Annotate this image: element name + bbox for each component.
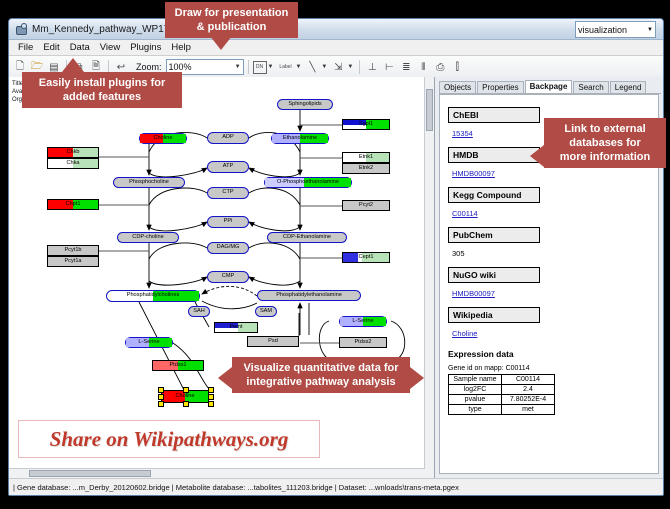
selection-handle-s[interactable] [183, 401, 189, 407]
table-row: pvalue 7.80252E-4 [449, 395, 555, 405]
node-label: Sphingolipids [288, 102, 321, 108]
node-label: ADP [222, 135, 234, 141]
callout-visualize-line2: integrative pathway analysis [239, 375, 403, 389]
label-icon[interactable]: Label [276, 59, 294, 75]
node-label: Ethanolamine [283, 136, 317, 142]
tab-backpage[interactable]: Backpage [525, 80, 573, 93]
visualization-combo[interactable]: visualization ▼ [575, 21, 656, 38]
expression-table: Sample name C00114 log2FC 2.4 pvalue 7.8… [448, 374, 555, 415]
node-phosphatidylcholines[interactable]: Phosphatidylcholines [106, 290, 200, 302]
db-link-hmdb[interactable]: HMDB00097 [452, 169, 495, 178]
menu-edit[interactable]: Edit [38, 41, 64, 54]
node-o-phosphoethanolamine[interactable]: O-Phosphoethanolamine [264, 177, 352, 188]
db-link-nugo-wiki[interactable]: HMDB00097 [452, 289, 495, 298]
menu-plugins[interactable]: Plugins [125, 41, 166, 54]
node-ptdss2[interactable]: Ptdss2 [339, 337, 387, 348]
canvas-horizontal-scrollbar[interactable] [9, 468, 425, 478]
node-sphingolipids[interactable]: Sphingolipids [277, 99, 333, 110]
node-ppi[interactable]: PPi [207, 216, 249, 228]
node-label: Etnk2 [359, 166, 373, 172]
callout-visualize-arrow-right-icon [410, 367, 424, 389]
node-label: L-Serine [352, 319, 373, 325]
node-label: Pcyt1b [64, 248, 81, 254]
node-ethanolamine-top[interactable]: Ethanolamine [271, 133, 329, 144]
node-ctp[interactable]: CTP [207, 187, 249, 199]
node-label: CDP-choline [132, 235, 163, 241]
selection-handle-nw[interactable] [158, 387, 164, 393]
menu-view[interactable]: View [95, 41, 125, 54]
table-row: type met [449, 405, 555, 415]
node-label: Chpt1 [66, 202, 81, 208]
callout-link-line1: Link to external [551, 122, 659, 136]
table-row: log2FC 2.4 [449, 385, 555, 395]
expr-val-sample-name: C00114 [502, 375, 555, 385]
callout-plugins-line2: added features [29, 90, 175, 104]
node-cmp[interactable]: CMP [207, 271, 249, 283]
db-link-chebi[interactable]: 15354 [452, 129, 473, 138]
db-header-kegg-compound: Kegg Compound [448, 187, 540, 203]
canvas-vscroll-thumb[interactable] [426, 89, 433, 131]
db-header-hmdb: HMDB [448, 147, 540, 163]
selection-handle-e[interactable] [208, 394, 214, 400]
node-label: Pemt [229, 325, 242, 331]
callout-link-line3: more information [551, 150, 659, 164]
callout-plugins-arrow-icon [62, 58, 84, 72]
db-header-nugo-wiki: NuGO wiki [448, 267, 540, 283]
label-dropdown-icon[interactable]: ▼ [295, 64, 301, 70]
db-header-wikipedia: Wikipedia [448, 307, 540, 323]
node-label: PPi [224, 219, 233, 225]
canvas-hscroll-thumb[interactable] [29, 470, 151, 477]
node-atp[interactable]: ATP [207, 161, 249, 173]
expr-key-log2fc: log2FC [449, 385, 502, 395]
canvas-vertical-scrollbar[interactable] [424, 77, 434, 478]
node-sgpl1[interactable]: Sgpl1 [342, 119, 390, 130]
callout-plugins-line1: Easily install plugins for [29, 76, 175, 90]
datanode-dropdown-icon[interactable]: ▼ [268, 64, 274, 70]
zoom-label: Zoom: [136, 62, 162, 72]
node-l-serine-left[interactable]: L-Serine [125, 337, 173, 348]
node-pcyt1b[interactable]: Pcyt1b [47, 245, 99, 256]
node-label: O-Phosphoethanolamine [277, 180, 339, 186]
expr-key-sample-name: Sample name [449, 375, 502, 385]
status-bar: | Gene database: ...m_Derby_20120602.bri… [9, 478, 663, 495]
node-label: Chka [66, 161, 79, 167]
db-link-wikipedia[interactable]: Choline [452, 329, 477, 338]
node-label: Etnk1 [359, 155, 373, 161]
node-chkb[interactable]: Chkb [47, 147, 99, 158]
line-icon[interactable]: ╲ [304, 59, 320, 75]
node-label: Ptdss1 [169, 363, 186, 369]
callout-draw-arrow-icon [210, 36, 232, 50]
expr-val-pvalue: 7.80252E-4 [502, 395, 555, 405]
connector-icon[interactable]: ⇲ [330, 59, 346, 75]
menu-data[interactable]: Data [65, 41, 95, 54]
node-sam[interactable]: SAM [255, 306, 277, 317]
node-label: Phosphatidylcholines [127, 293, 180, 299]
menu-bar: File Edit Data View Plugins Help [9, 40, 663, 56]
node-choline-top[interactable]: Choline [139, 133, 187, 144]
distribute-v-icon[interactable]: ≣ [398, 59, 414, 75]
node-ptdss1[interactable]: Ptdss1 [152, 360, 204, 371]
selection-handle-ne[interactable] [208, 387, 214, 393]
menu-help[interactable]: Help [166, 41, 196, 54]
node-label: Choline [154, 136, 173, 142]
db-header-chebi: ChEBI [448, 107, 540, 123]
layout-icon[interactable]: ⫿ [449, 59, 465, 75]
node-label: Phosphatidylethanolamine [276, 293, 342, 299]
db-link-kegg-compound[interactable]: C00114 [452, 209, 478, 218]
tab-legend[interactable]: Legend [610, 81, 647, 93]
line-dropdown-icon[interactable]: ▼ [321, 64, 327, 70]
toolbar-separator-4 [359, 60, 360, 74]
node-phosphocholine[interactable]: Phosphocholine [113, 177, 185, 188]
node-label: Chkb [66, 150, 79, 156]
node-label: Phosphocholine [129, 180, 169, 186]
db-value-pubchem: 305 [452, 249, 465, 258]
node-label: Pcyt2 [359, 203, 373, 209]
node-adp[interactable]: ADP [207, 132, 249, 144]
expr-key-type: type [449, 405, 502, 415]
chevron-down-icon: ▼ [235, 64, 241, 70]
callout-draw-line1: Draw for presentation [172, 6, 291, 20]
selection-handle-n[interactable] [183, 387, 189, 393]
expr-key-pvalue: pvalue [449, 395, 502, 405]
node-label: Pcyt1a [64, 259, 81, 265]
node-sah[interactable]: SAH [188, 306, 210, 317]
expression-data-header: Expression data [448, 349, 650, 359]
node-l-serine-right[interactable]: L-Serine [339, 316, 387, 327]
screenshot-root: Mm_Kennedy_pathway_WP1771_45176.gpml Fil… [0, 0, 670, 509]
callout-link-arrow-icon [530, 145, 544, 167]
callout-visualize-line1: Visualize quantitative data for [239, 361, 403, 375]
side-panel-tabs: Objects Properties Backpage Search Legen… [439, 79, 661, 94]
toolbar-separator-3 [248, 60, 249, 74]
title-bar: Mm_Kennedy_pathway_WP1771_45176.gpml [9, 19, 663, 40]
table-row: Sample name C00114 [449, 375, 555, 385]
menu-file[interactable]: File [13, 41, 38, 54]
node-pemt[interactable]: Pemt [214, 322, 258, 333]
print-icon[interactable]: ⎙ [432, 59, 448, 75]
tab-properties[interactable]: Properties [477, 81, 523, 93]
node-etnk1[interactable]: Etnk1 [342, 152, 390, 163]
node-pcyt2[interactable]: Pcyt2 [342, 200, 390, 211]
zoom-value: 100% [169, 62, 192, 72]
gene-id-on-mapp: Gene id on mapp: C00114 [448, 365, 650, 372]
node-label: Choline [176, 394, 195, 400]
db-header-pubchem: PubChem [448, 227, 540, 243]
app-icon [15, 23, 27, 35]
node-etnk2[interactable]: Etnk2 [342, 163, 390, 174]
callout-draw-line2: & publication [172, 20, 291, 34]
node-label: Psd [268, 339, 278, 345]
node-pcyt1a[interactable]: Pcyt1a [47, 256, 99, 267]
selection-handle-w[interactable] [158, 394, 164, 400]
node-cept1[interactable]: Cept1 [342, 252, 390, 263]
expr-val-type: met [502, 405, 555, 415]
node-label: ATP [223, 164, 233, 170]
datanode-icon[interactable]: DN [253, 61, 267, 74]
status-text: | Gene database: ...m_Derby_20120602.bri… [13, 483, 459, 492]
callout-share: Share on Wikipathways.org [18, 420, 320, 458]
tab-objects[interactable]: Objects [439, 81, 476, 93]
node-label: Sgpl1 [359, 122, 373, 128]
visualization-value: visualization [578, 25, 627, 35]
callout-draw: Draw for presentation & publication [165, 2, 298, 38]
node-dag-mg[interactable]: DAG/MG [207, 242, 249, 254]
distribute-h-icon[interactable]: ⦀ [415, 59, 431, 75]
callout-plugins: Easily install plugins for added feature… [22, 72, 182, 108]
chevron-down-icon-2: ▼ [647, 27, 653, 33]
node-label: L-Serine [138, 340, 159, 346]
callout-visualize: Visualize quantitative data for integrat… [232, 357, 410, 393]
callout-visualize-arrow-icon [218, 367, 232, 389]
align-top-icon[interactable]: ⊥ [364, 59, 380, 75]
node-label: DAG/MG [217, 245, 240, 251]
node-chka[interactable]: Chka [47, 158, 99, 169]
pathway-canvas[interactable]: Title: Availa Organi [9, 77, 435, 478]
node-cdp-choline[interactable]: CDP-choline [117, 232, 179, 243]
node-cdp-ethanolamine[interactable]: CDP-Ethanolamine [267, 232, 347, 243]
node-label: Ptdss2 [354, 340, 371, 346]
node-label: SAM [260, 309, 272, 315]
selection-handle-sw[interactable] [158, 401, 164, 407]
node-psd[interactable]: Psd [247, 336, 299, 347]
tab-search[interactable]: Search [573, 81, 608, 93]
node-label: CMP [222, 274, 234, 280]
expr-val-log2fc: 2.4 [502, 385, 555, 395]
connector-dropdown-icon[interactable]: ▼ [347, 64, 353, 70]
callout-share-text: Share on Wikipathways.org [50, 427, 289, 452]
callout-link-external: Link to external databases for more info… [544, 118, 666, 168]
selection-handle-se[interactable] [208, 401, 214, 407]
node-label: CDP-Ethanolamine [283, 235, 331, 241]
node-phosphatidylethanolamine[interactable]: Phosphatidylethanolamine [257, 290, 361, 301]
node-label: Cept1 [359, 255, 374, 261]
callout-link-line2: databases for [551, 136, 659, 150]
node-label: SAH [193, 309, 205, 315]
align-left-icon[interactable]: ⊢ [381, 59, 397, 75]
node-chpt1[interactable]: Chpt1 [47, 199, 99, 210]
node-label: CTP [222, 190, 233, 196]
